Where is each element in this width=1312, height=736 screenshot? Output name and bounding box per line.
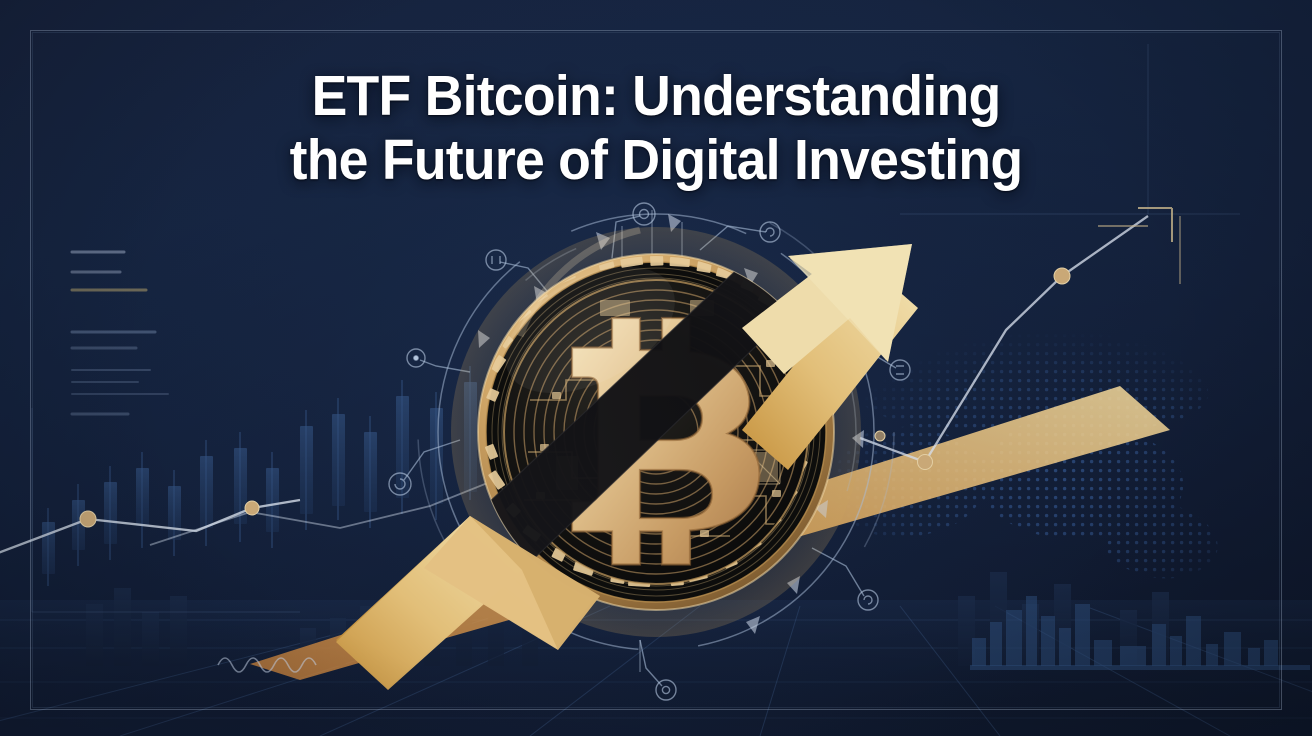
hero-banner: ETF Bitcoin: Understanding the Future of… [0, 0, 1312, 736]
vignette-overlay [0, 0, 1312, 736]
